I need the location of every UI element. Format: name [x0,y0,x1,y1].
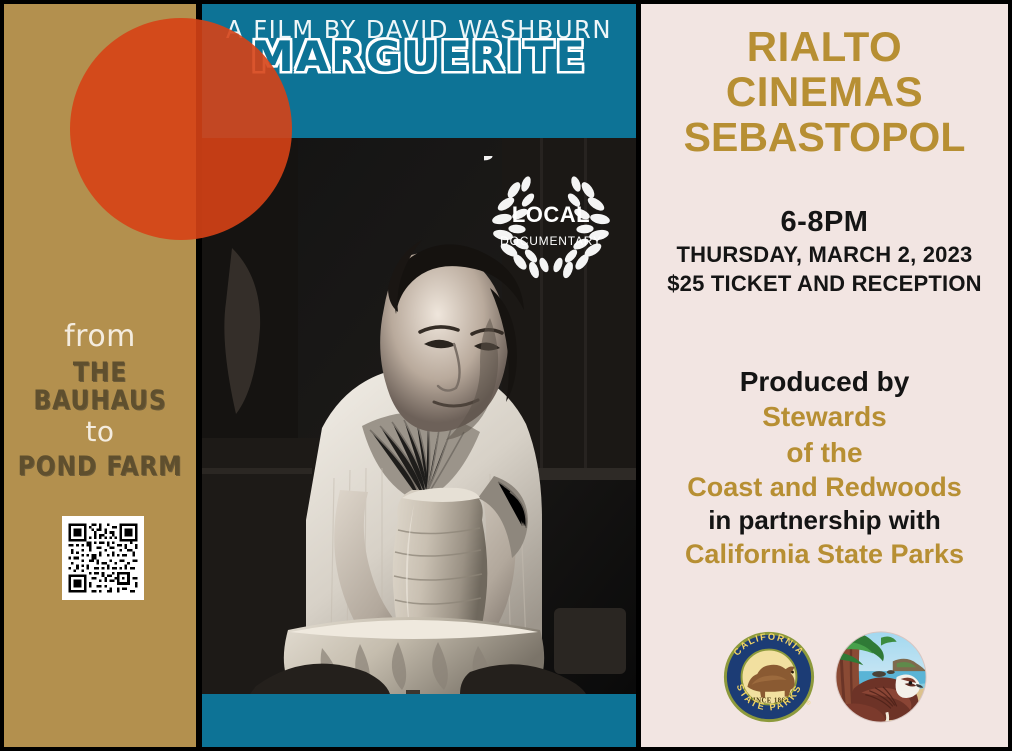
california-state-parks-logo: SINCE 1864 CALIFORNIA STATE PARKS ® [720,628,818,726]
svg-text:DOCUMENTARY: DOCUMENTARY [500,234,602,248]
partnership-label: in partnership with [641,504,1008,537]
venue-line-3: SEBASTOPOL [641,115,1008,159]
produced-by-label: Produced by [641,364,1008,399]
producer-line-1: Stewards [641,399,1008,434]
poster-canvas: from THE BAUHAUS to POND FARM [0,0,1012,751]
show-date: THURSDAY, MARCH 2, 2023 [641,240,1008,269]
qr-code[interactable] [62,516,144,600]
from-label: from [4,322,196,352]
credit-band [202,694,636,747]
showtime-block: 6-8PM THURSDAY, MARCH 2, 2023 $25 TICKET… [641,204,1008,298]
sponsor-logos: SINCE 1864 CALIFORNIA STATE PARKS ® [641,622,1008,732]
left-gold-panel: from THE BAUHAUS to POND FARM [4,4,196,747]
venue-line-1: RIALTO [641,24,1008,69]
show-time: 6-8PM [641,204,1008,240]
middle-panel: MARGUERITE [202,4,636,747]
produced-by-block: Produced by Stewards of the Coast and Re… [641,364,1008,571]
svg-text:®: ® [806,699,811,706]
right-info-panel: RIALTO CINEMAS SEBASTOPOL 6-8PM THURSDAY… [641,4,1008,747]
film-still-photo: LOCAL DOCUMENTARY [202,138,636,694]
venue-line-2: CINEMAS [641,69,1008,114]
svg-text:LOCAL: LOCAL [512,202,590,227]
director-credit: A FILM BY DAVID WASHBURN [209,15,630,44]
producer-line-3: Coast and Redwoods [641,470,1008,504]
bauhaus-line: THE BAUHAUS [8,359,192,416]
left-panel-copy: from THE BAUHAUS to POND FARM [4,322,196,483]
partner-name: California State Parks [641,537,1008,571]
venue-title: RIALTO CINEMAS SEBASTOPOL [641,24,1008,159]
producer-line-2: of the [641,435,1008,470]
stewards-of-the-coast-and-redwoods-logo [832,628,930,726]
ticket-price: $25 TICKET AND RECEPTION [641,269,1008,298]
pond-farm-line: POND FARM [8,453,192,481]
local-documentary-badge: LOCAL DOCUMENTARY [484,156,618,290]
to-label: to [4,418,196,446]
